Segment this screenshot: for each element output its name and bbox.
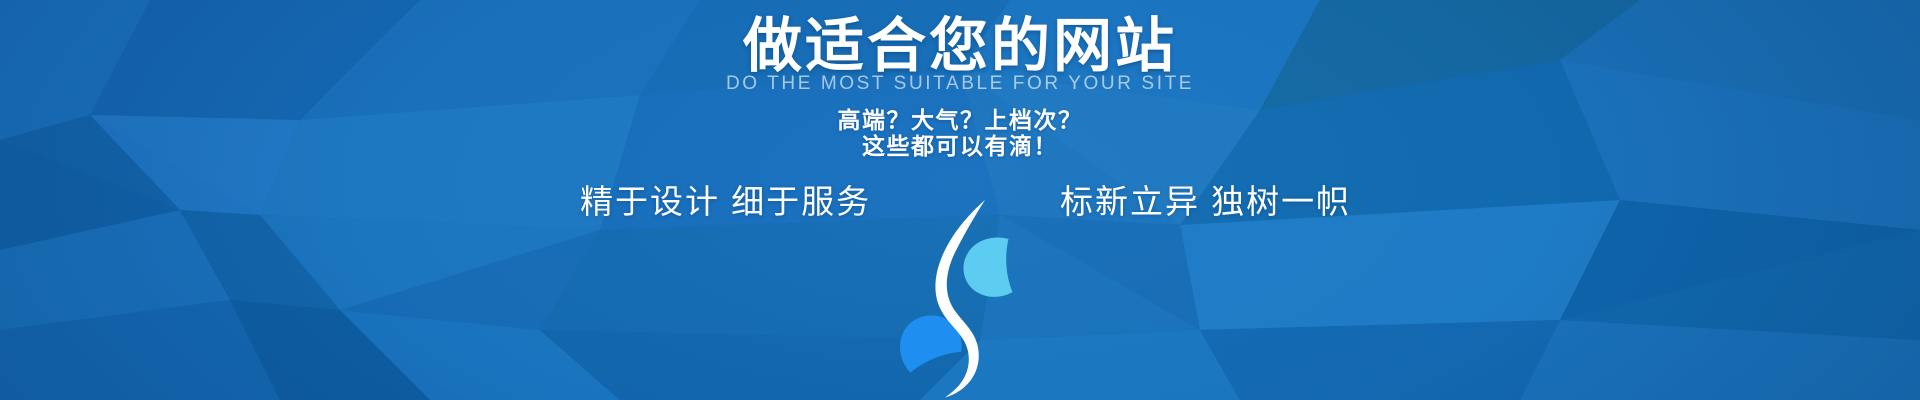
logo-stem-icon	[935, 200, 985, 398]
banner-content: 做适合您的网站 DO THE MOST SUITABLE FOR YOUR SI…	[0, 0, 1920, 400]
slogan-right: 标新立异 独树一帜	[1060, 180, 1351, 224]
hero-banner: 做适合您的网站 DO THE MOST SUITABLE FOR YOUR SI…	[0, 0, 1920, 400]
brand-logo	[890, 198, 1030, 400]
banner-tagline-answer: 这些都可以有滴！	[0, 131, 1920, 161]
slogan-left: 精于设计 细于服务	[580, 180, 871, 224]
logo-leaf-top-icon	[964, 237, 1013, 296]
banner-subtitle-english: DO THE MOST SUITABLE FOR YOUR SITE	[0, 71, 1920, 97]
leaf-swirl-icon	[890, 198, 1030, 400]
